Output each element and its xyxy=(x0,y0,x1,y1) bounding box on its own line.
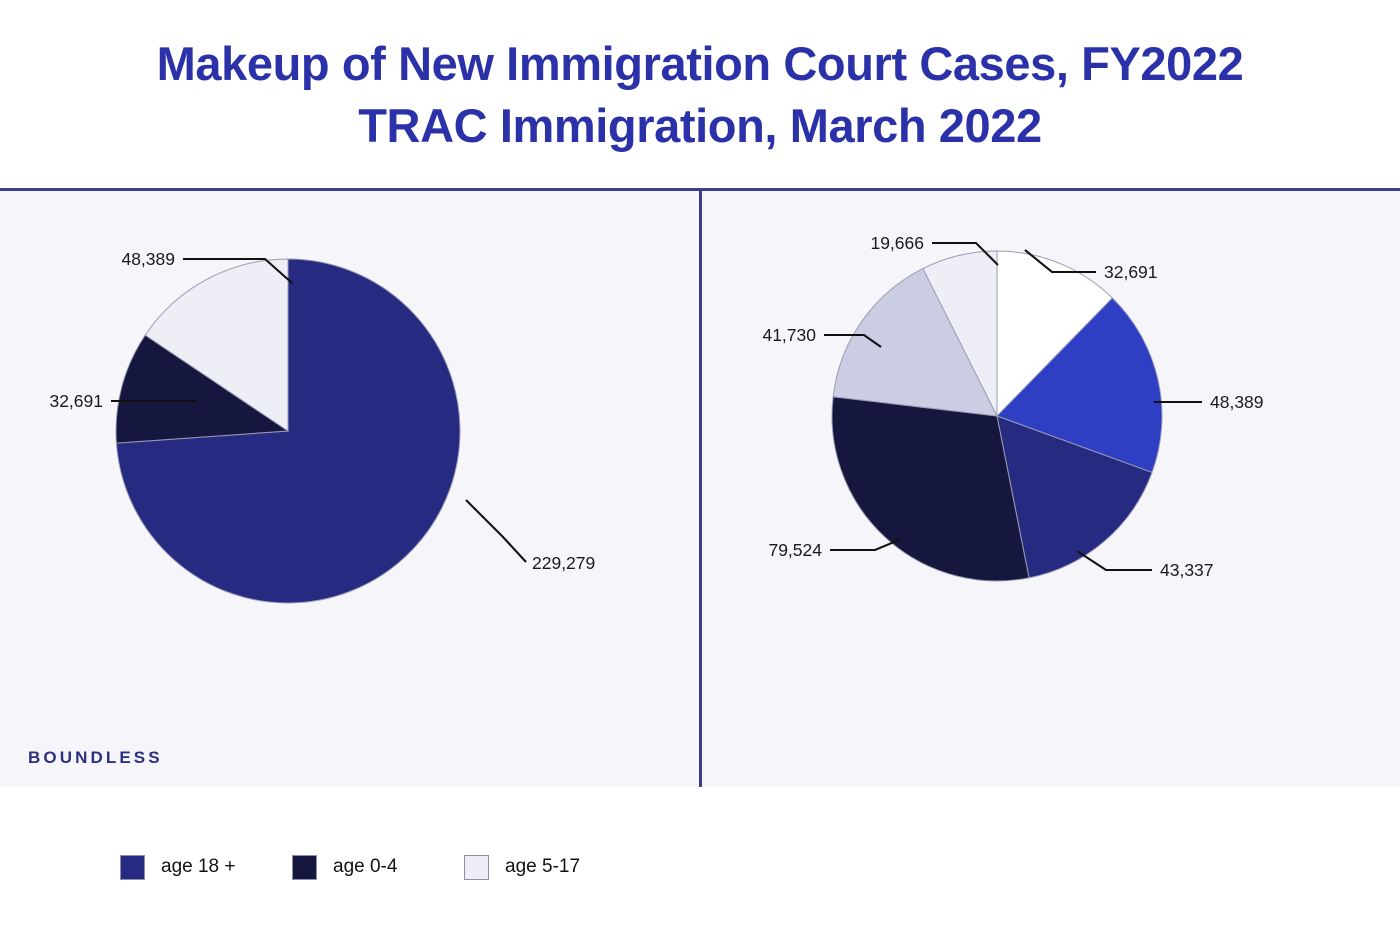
legend-swatch-age-5-17 xyxy=(464,855,489,880)
legend-item[interactable]: age 5-17 xyxy=(464,846,636,888)
slide-root: Makeup of New Immigration Court Cases, F… xyxy=(0,0,1400,787)
legend-swatch-age-18-plus xyxy=(120,855,145,880)
leader-line-79524 xyxy=(830,540,899,550)
right-chart-panel: 19,666 41,730 79,524 32,691 48,389 43,33… xyxy=(702,191,1400,787)
page-title-line1: Makeup of New Immigration Court Cases, F… xyxy=(157,33,1244,95)
left-chart-panel: 48,389 32,691 229,279 age 18 + age 0-4 a… xyxy=(0,191,699,787)
right-pie-svg: 19,666 41,730 79,524 32,691 48,389 43,33… xyxy=(762,221,1342,621)
left-chart-legend: age 18 + age 0-4 age 5-17 xyxy=(120,846,640,888)
boundless-logo: BOUNDLESS xyxy=(28,748,163,768)
right-pie-figure: 19,666 41,730 79,524 32,691 48,389 43,33… xyxy=(762,221,1342,621)
legend-swatch-age-0-4 xyxy=(292,855,317,880)
value-label-19666: 19,666 xyxy=(870,233,924,253)
value-label-79524: 79,524 xyxy=(768,540,822,560)
leader-line-229279 xyxy=(466,500,526,562)
legend-item[interactable]: age 18 + xyxy=(120,846,292,888)
value-label-229279: 229,279 xyxy=(532,553,595,573)
right-pie-slices[interactable] xyxy=(832,251,1162,581)
legend-label: age 5-17 xyxy=(505,856,580,878)
value-label-43337: 43,337 xyxy=(1160,560,1214,580)
chart-header: Makeup of New Immigration Court Cases, F… xyxy=(0,0,1400,190)
left-pie-svg: 48,389 32,691 229,279 xyxy=(60,221,660,621)
value-label-32691: 32,691 xyxy=(1104,262,1158,282)
left-pie-slices[interactable] xyxy=(116,259,460,603)
value-label-41730: 41,730 xyxy=(762,325,816,345)
value-label-32691: 32,691 xyxy=(49,391,103,411)
legend-label: age 0-4 xyxy=(333,856,397,878)
legend-label: age 18 + xyxy=(161,856,236,878)
page-title-line2: TRAC Immigration, March 2022 xyxy=(358,95,1042,157)
value-label-48389: 48,389 xyxy=(121,249,175,269)
value-label-48389: 48,389 xyxy=(1210,392,1264,412)
legend-item[interactable]: age 0-4 xyxy=(292,846,464,888)
left-pie-figure: 48,389 32,691 229,279 xyxy=(60,221,660,621)
